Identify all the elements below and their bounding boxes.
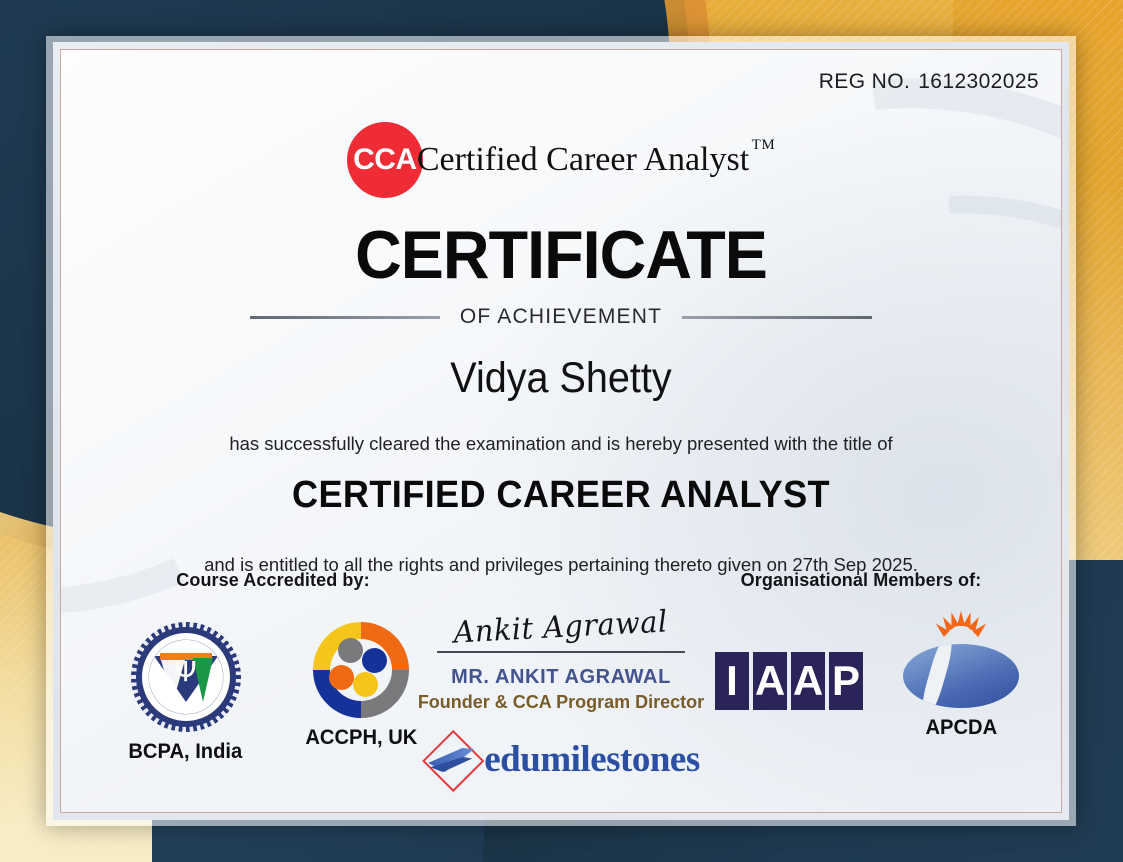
- member-logos: I A A P: [677, 622, 1057, 740]
- recipient-name: Vidya Shetty: [101, 354, 1021, 403]
- registration-label: REG NO.: [819, 70, 910, 93]
- edumilestones-mark-icon: [422, 730, 480, 788]
- apcda-logo-icon: [903, 622, 1019, 708]
- logo-item-apcda: APCDA: [903, 622, 1019, 740]
- page-title: CERTIFICATE: [86, 216, 1036, 294]
- subtitle-row: OF ACHIEVEMENT: [61, 305, 1061, 329]
- body-line-1: has successfully cleared the examination…: [61, 433, 1061, 455]
- iaap-letter-4: P: [829, 652, 863, 710]
- divider-right: [682, 316, 872, 319]
- logo-item-iaap: I A A P: [715, 652, 863, 710]
- apcda-globe-icon: [903, 644, 1019, 708]
- brand-name-text: Certified Career Analyst: [417, 141, 749, 178]
- signature-rule: [437, 651, 685, 653]
- certificate-card: REG NO.1612302025 CCA Certified Career A…: [60, 49, 1062, 813]
- organisational-members-label: Organisational Members of:: [671, 570, 1051, 591]
- iaap-letter-2: A: [753, 652, 787, 710]
- certificate-root: REG NO.1612302025 CCA Certified Career A…: [0, 0, 1123, 862]
- iaap-letter-1: I: [715, 652, 749, 710]
- logo-caption-bcpa: BCPA, India: [129, 740, 243, 764]
- accredited-by-label: Course Accredited by:: [83, 570, 463, 591]
- signature-script: Ankit Agrawal: [453, 604, 669, 650]
- logo-item-bcpa: Ψ BCPA, India: [126, 622, 245, 764]
- awarded-title: CERTIFIED CAREER ANALYST: [86, 474, 1036, 517]
- bcpa-psi-icon: Ψ: [149, 658, 223, 686]
- registration-number: REG NO.1612302025: [819, 70, 1039, 94]
- iaap-logo-icon: I A A P: [715, 652, 863, 710]
- divider-left: [250, 316, 440, 319]
- edumilestones-wordmark: edumilestones: [484, 738, 700, 781]
- cca-badge-icon: CCA: [347, 122, 423, 198]
- accph-logo-icon: [313, 622, 409, 718]
- brand-lockup: CCA Certified Career Analyst TM: [61, 122, 1061, 198]
- brand-name: Certified Career Analyst TM: [417, 141, 775, 179]
- page-subtitle: OF ACHIEVEMENT: [460, 305, 662, 329]
- bcpa-seal-icon: Ψ: [131, 622, 241, 732]
- registration-value: 1612302025: [918, 70, 1039, 93]
- iaap-letter-3: A: [791, 652, 825, 710]
- edumilestones-logo-icon: edumilestones: [422, 730, 700, 788]
- logo-caption-apcda: APCDA: [925, 716, 997, 740]
- logo-caption-accph: ACCPH, UK: [305, 726, 417, 750]
- trademark-icon: TM: [752, 137, 776, 154]
- bcpa-inner-disc: Ψ: [149, 640, 223, 714]
- certificate-content: REG NO.1612302025 CCA Certified Career A…: [61, 50, 1061, 812]
